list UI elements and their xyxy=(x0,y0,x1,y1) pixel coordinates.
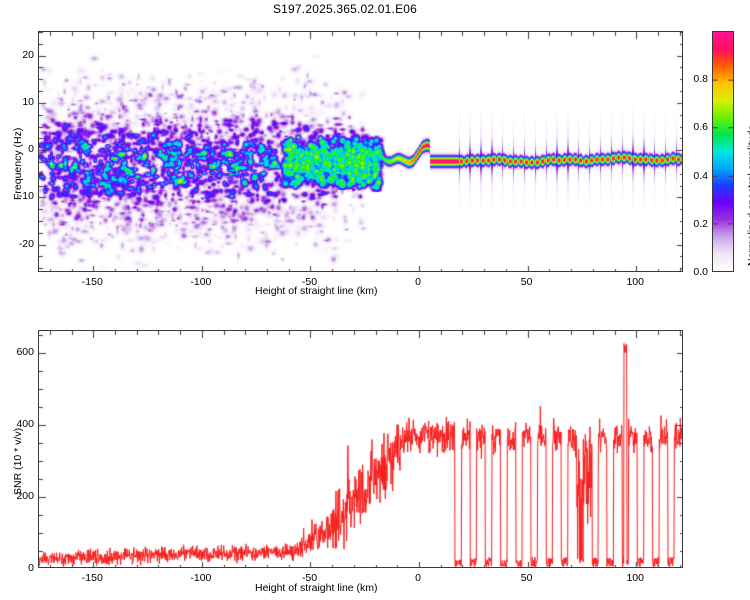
x-tick-label: 100 xyxy=(626,276,644,288)
spectrogram-plot xyxy=(38,31,683,272)
y-tick-label: 400 xyxy=(16,418,34,430)
y-tick-label: 0 xyxy=(28,143,34,155)
snr-tick-layer xyxy=(39,331,683,568)
x-tick-label: 50 xyxy=(521,572,533,584)
spectrogram-tick-layer xyxy=(39,32,683,272)
spectrogram-x-axis-label: Height of straight line (km) xyxy=(255,285,378,297)
colorbar-tick-label: 0.0 xyxy=(693,266,708,278)
y-tick-label: 200 xyxy=(16,490,34,502)
x-tick-label: 0 xyxy=(415,276,421,288)
colorbar-tick-label: 0.6 xyxy=(693,121,708,133)
y-tick-label: -20 xyxy=(19,238,34,250)
x-tick-label: -150 xyxy=(82,276,103,288)
colorbar-tick-label: 0.2 xyxy=(693,218,708,230)
y-tick-label: 0 xyxy=(28,562,34,574)
colorbar-tick-label: 0.4 xyxy=(693,170,708,182)
colorbar-label: Normalized spectral amplitude xyxy=(746,125,750,266)
x-tick-label: -150 xyxy=(82,572,103,584)
y-tick-label: 10 xyxy=(22,96,34,108)
x-tick-label: -100 xyxy=(190,572,211,584)
snr-x-axis-label: Height of straight line (km) xyxy=(255,582,378,594)
x-tick-label: 50 xyxy=(521,276,533,288)
y-tick-label: -10 xyxy=(19,190,34,202)
spectrogram-y-axis-label: Frequency (Hz) xyxy=(12,128,24,200)
y-tick-label: 600 xyxy=(16,346,34,358)
colorbar xyxy=(712,31,734,272)
y-tick-label: 20 xyxy=(22,49,34,61)
x-tick-label: 0 xyxy=(415,572,421,584)
x-tick-label: 100 xyxy=(626,572,644,584)
figure-title: S197.2025.365.02.01.E06 xyxy=(0,2,690,16)
colorbar-gradient xyxy=(713,32,733,271)
snr-plot xyxy=(38,330,683,568)
x-tick-label: -100 xyxy=(190,276,211,288)
colorbar-tick-label: 0.8 xyxy=(693,73,708,85)
snr-y-axis-label: SNR (10 * v/v) xyxy=(12,428,24,495)
